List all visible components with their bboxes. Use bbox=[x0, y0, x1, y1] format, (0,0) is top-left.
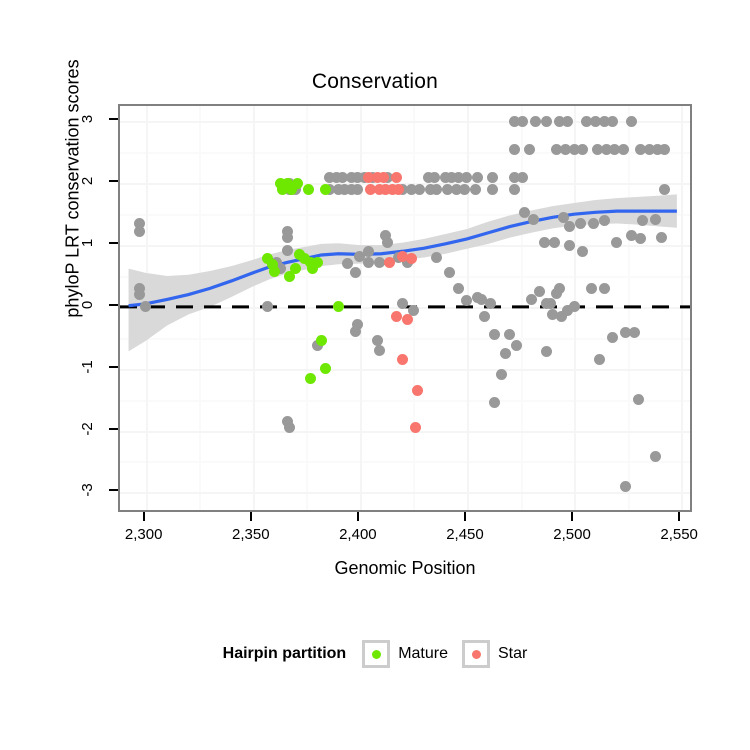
x-axis-tick bbox=[571, 512, 573, 521]
legend-items: MatureStar bbox=[362, 640, 527, 668]
scatter-point-other bbox=[528, 214, 539, 225]
scatter-point-other bbox=[282, 245, 293, 256]
page-title: Conservation bbox=[0, 70, 750, 94]
scatter-point-mature bbox=[312, 257, 323, 268]
scatter-point-other bbox=[562, 116, 573, 127]
y-axis-tick-label: 2 bbox=[79, 169, 97, 193]
scatter-point-star bbox=[402, 314, 413, 325]
scatter-point-other bbox=[659, 144, 670, 155]
y-axis-tick-label: -2 bbox=[79, 417, 97, 441]
scatter-point-other bbox=[134, 289, 145, 300]
scatter-point-other bbox=[382, 237, 393, 248]
scatter-point-other bbox=[134, 226, 145, 237]
scatter-point-other bbox=[554, 283, 565, 294]
x-axis-tick-label: 2,550 bbox=[644, 526, 714, 543]
scatter-point-other bbox=[453, 283, 464, 294]
y-axis-tick bbox=[109, 180, 118, 182]
y-axis-tick-label: 3 bbox=[79, 107, 97, 131]
scatter-point-other bbox=[564, 240, 575, 251]
scatter-point-star bbox=[412, 385, 423, 396]
scatter-point-mature bbox=[284, 271, 295, 282]
scatter-point-other bbox=[363, 246, 374, 257]
scatter-point-other bbox=[509, 144, 520, 155]
scatter-point-star bbox=[391, 172, 402, 183]
scatter-point-other bbox=[539, 237, 550, 248]
scatter-point-other bbox=[618, 144, 629, 155]
scatter-point-other bbox=[470, 184, 481, 195]
y-axis-tick bbox=[109, 489, 118, 491]
chart-root: Conservation phyloP LRT conservation sco… bbox=[0, 0, 750, 750]
x-axis-tick bbox=[464, 512, 466, 521]
x-axis-tick-label: 2,350 bbox=[216, 526, 286, 543]
y-axis-tick-label: 0 bbox=[79, 293, 97, 317]
y-axis-title: phyloP LRT conservation scores bbox=[63, 0, 84, 389]
y-axis-tick-label: -1 bbox=[79, 355, 97, 379]
scatter-point-other bbox=[549, 237, 560, 248]
x-axis-tick bbox=[678, 512, 680, 521]
x-axis-tick bbox=[143, 512, 145, 521]
scatter-point-mature bbox=[269, 266, 280, 277]
scatter-point-other bbox=[577, 246, 588, 257]
scatter-point-other bbox=[509, 184, 520, 195]
scatter-point-star bbox=[391, 311, 402, 322]
scatter-point-other bbox=[517, 172, 528, 183]
scatter-point-star bbox=[393, 184, 404, 195]
scatter-point-other bbox=[530, 116, 541, 127]
scatter-point-mature bbox=[303, 184, 314, 195]
scatter-point-other bbox=[541, 346, 552, 357]
x-axis-title: Genomic Position bbox=[118, 558, 692, 579]
scatter-point-other bbox=[659, 184, 670, 195]
x-axis-tick-label: 2,400 bbox=[323, 526, 393, 543]
x-axis-tick bbox=[250, 512, 252, 521]
y-axis-tick bbox=[109, 118, 118, 120]
scatter-point-other bbox=[363, 257, 374, 268]
scatter-point-other bbox=[541, 116, 552, 127]
scatter-point-mature bbox=[305, 373, 316, 384]
scatter-point-star bbox=[406, 253, 417, 264]
scatter-point-mature bbox=[320, 184, 331, 195]
y-axis-tick bbox=[109, 366, 118, 368]
legend-item-star[interactable]: Star bbox=[462, 640, 527, 668]
scatter-point-other bbox=[577, 144, 588, 155]
scatter-point-other bbox=[374, 257, 385, 268]
scatter-point-other bbox=[629, 327, 640, 338]
legend-key-swatch bbox=[462, 640, 490, 668]
scatter-point-other bbox=[284, 422, 295, 433]
y-axis-tick bbox=[109, 242, 118, 244]
y-axis-tick-label: -3 bbox=[79, 478, 97, 502]
scatter-point-other bbox=[374, 345, 385, 356]
legend-label: Star bbox=[498, 645, 527, 663]
legend-item-mature[interactable]: Mature bbox=[362, 640, 448, 668]
scatter-point-other bbox=[650, 214, 661, 225]
scatter-point-other bbox=[569, 301, 580, 312]
scatter-point-other bbox=[611, 237, 622, 248]
scatter-point-other bbox=[511, 340, 522, 351]
scatter-point-other bbox=[588, 218, 599, 229]
scatter-point-other bbox=[429, 172, 440, 183]
legend-dot-icon bbox=[472, 650, 481, 659]
legend-title: Hairpin partition bbox=[223, 645, 347, 663]
scatter-point-star bbox=[410, 422, 421, 433]
scatter-point-other bbox=[282, 232, 293, 243]
legend-dot-icon bbox=[372, 650, 381, 659]
scatter-point-other bbox=[637, 215, 648, 226]
loess-trend-line bbox=[120, 106, 692, 512]
scatter-point-other bbox=[575, 218, 586, 229]
scatter-point-other bbox=[633, 394, 644, 405]
legend: Hairpin partition MatureStar bbox=[0, 640, 750, 668]
y-axis-tick bbox=[109, 428, 118, 430]
scatter-point-other bbox=[586, 283, 597, 294]
scatter-point-other bbox=[599, 283, 610, 294]
scatter-point-other bbox=[500, 348, 511, 359]
scatter-point-other bbox=[524, 144, 535, 155]
scatter-point-other bbox=[607, 116, 618, 127]
scatter-point-star bbox=[378, 172, 389, 183]
scatter-point-other bbox=[487, 172, 498, 183]
x-axis-tick bbox=[357, 512, 359, 521]
y-axis-tick-label: 1 bbox=[79, 231, 97, 255]
scatter-point-mature bbox=[292, 178, 303, 189]
x-axis-tick-label: 2,300 bbox=[109, 526, 179, 543]
x-axis-tick-label: 2,500 bbox=[537, 526, 607, 543]
scatter-point-other bbox=[479, 311, 490, 322]
x-axis-tick-label: 2,450 bbox=[430, 526, 500, 543]
scatter-point-other bbox=[485, 298, 496, 309]
plot-panel bbox=[118, 104, 692, 512]
scatter-point-other bbox=[620, 481, 631, 492]
y-axis-tick bbox=[109, 304, 118, 306]
scatter-point-other bbox=[599, 215, 610, 226]
scatter-point-other bbox=[650, 451, 661, 462]
scatter-point-other bbox=[472, 172, 483, 183]
legend-key-swatch bbox=[362, 640, 390, 668]
legend-label: Mature bbox=[398, 645, 448, 663]
